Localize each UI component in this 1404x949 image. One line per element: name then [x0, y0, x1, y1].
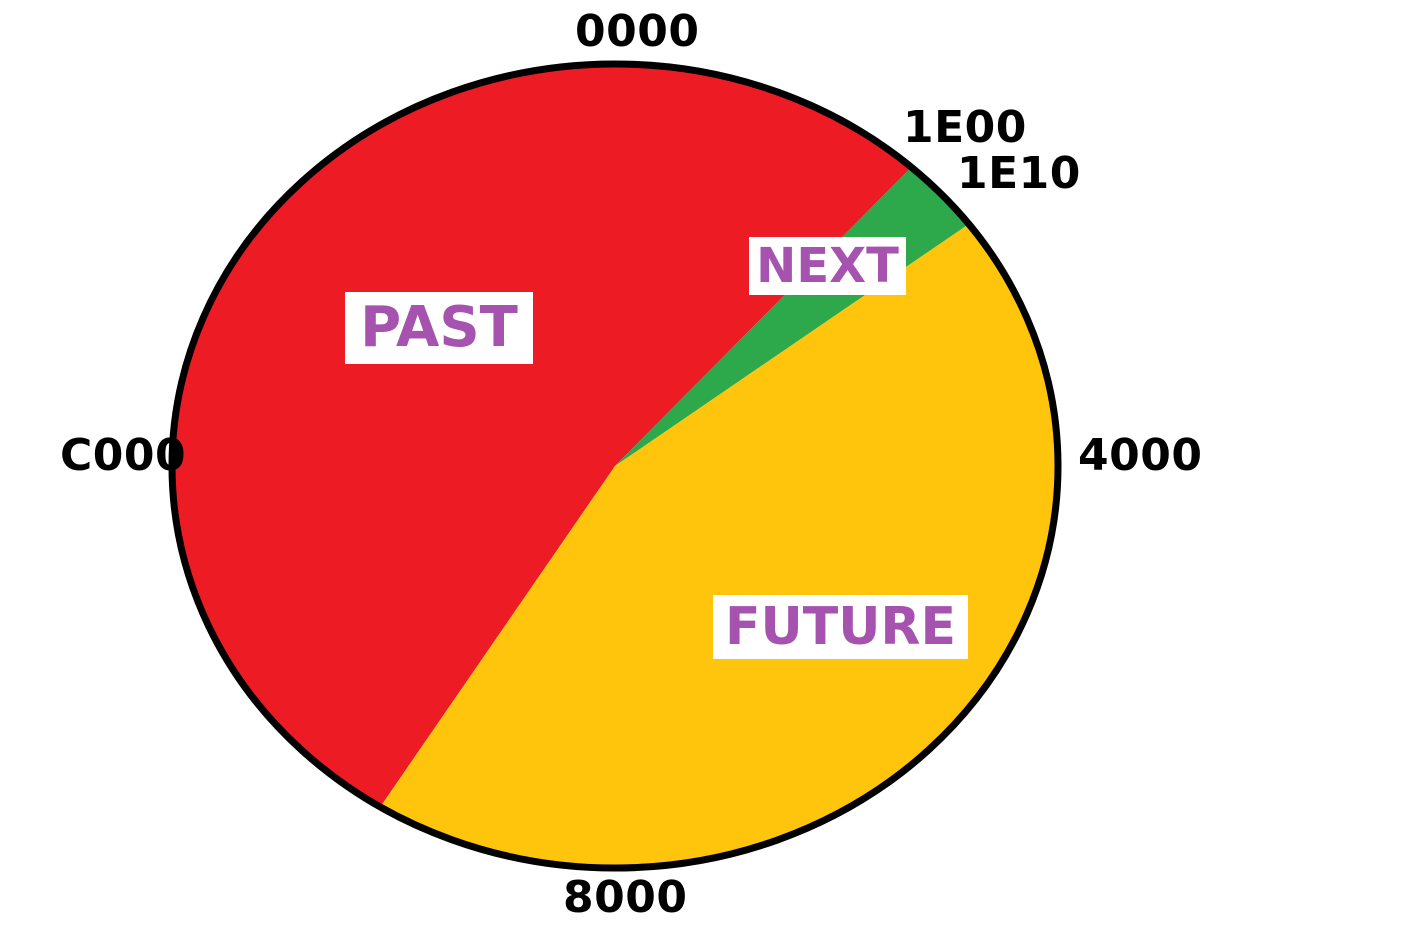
- tick-label-1e00: 1E00: [903, 106, 1027, 150]
- dial-stage: 0000 1E00 1E10 4000 8000 C000 PAST NEXT …: [0, 0, 1404, 949]
- region-label-future: FUTURE: [713, 595, 968, 659]
- tick-label-8000: 8000: [563, 876, 687, 920]
- tick-label-c000: C000: [60, 434, 186, 478]
- region-label-next: NEXT: [749, 237, 906, 295]
- tick-label-1e10: 1E10: [957, 152, 1081, 196]
- pie-wedges: [172, 64, 1058, 868]
- tick-label-4000: 4000: [1078, 434, 1202, 478]
- tick-label-0000: 0000: [575, 10, 699, 54]
- region-label-past: PAST: [345, 292, 533, 364]
